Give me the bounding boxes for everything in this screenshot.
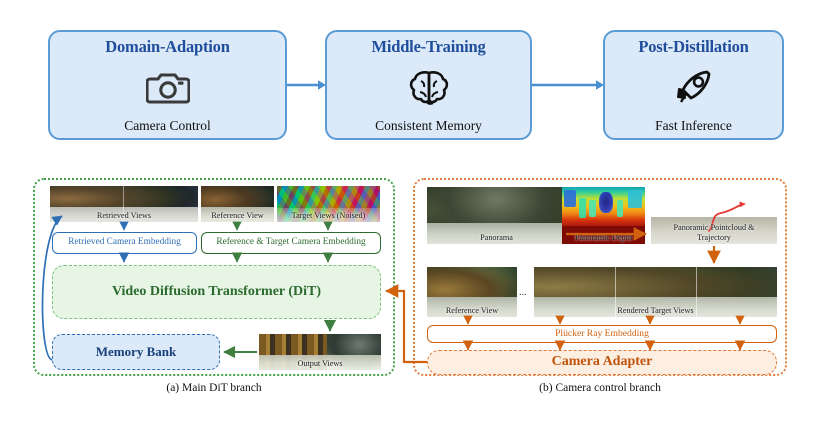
thumbnail-rendered-target-views: Rendered Target Views bbox=[534, 267, 777, 317]
stage-subtitle: Fast Inference bbox=[655, 119, 732, 133]
stage-post-distillation: Post-Distillation Fast Inference bbox=[603, 30, 784, 140]
stage-subtitle: Consistent Memory bbox=[375, 119, 482, 133]
box-label: Retrieved Camera Embedding bbox=[68, 238, 181, 248]
box-camera-adapter[interactable]: Camera Adapter bbox=[427, 350, 777, 375]
thumbnail-reference-view-right: Reference View bbox=[427, 267, 517, 317]
thumbnail-panorama: Panorama bbox=[427, 187, 566, 244]
thumbnail-label: Target Views (Noised) bbox=[277, 212, 380, 222]
thumbnail-panoramic-depth: Panoramic Depth bbox=[562, 187, 645, 244]
box-reference-target-camera-embedding[interactable]: Reference & Target Camera Embedding bbox=[201, 232, 381, 254]
stage-middle-training: Middle-Training Consistent Memory bbox=[325, 30, 532, 140]
thumbnail-output-views: Output Views bbox=[259, 334, 381, 370]
thumbnail-retrieved-views: Retrieved Views bbox=[50, 186, 198, 222]
thumbnail-label: Output Views bbox=[259, 360, 381, 370]
thumbnail-label: Reference View bbox=[427, 307, 517, 317]
thumbnail-label: Reference View bbox=[201, 212, 274, 222]
box-label: Plücker Ray Embedding bbox=[555, 329, 649, 339]
thumbnail-target-views-noised: Target Views (Noised) bbox=[277, 186, 380, 222]
thumbnail-reference-view: Reference View bbox=[201, 186, 274, 222]
stage-title: Post-Distillation bbox=[638, 39, 748, 56]
box-retrieved-camera-embedding[interactable]: Retrieved Camera Embedding bbox=[52, 232, 197, 254]
box-label: Memory Bank bbox=[96, 345, 177, 359]
stage-title: Middle-Training bbox=[371, 39, 485, 56]
ellipsis-label: ... bbox=[519, 287, 527, 298]
box-label: Camera Adapter bbox=[552, 355, 653, 370]
figure-root: Domain-Adaption Camera Control Middle-Tr… bbox=[0, 0, 816, 423]
box-memory-bank[interactable]: Memory Bank bbox=[52, 334, 220, 370]
left-branch-caption: (a) Main DiT branch bbox=[33, 382, 395, 394]
rocket-icon bbox=[673, 69, 715, 105]
thumbnail-label: Panoramic Depth bbox=[562, 234, 645, 244]
thumbnail-label-line2: Trajectory bbox=[697, 233, 731, 242]
box-video-diffusion-transformer[interactable]: Video Diffusion Transformer (DiT) bbox=[52, 265, 381, 319]
stage-subtitle: Camera Control bbox=[124, 119, 211, 133]
thumbnail-label: Rendered Target Views bbox=[534, 307, 777, 317]
box-label: Video Diffusion Transformer (DiT) bbox=[112, 285, 321, 300]
thumbnail-panoramic-pointcloud-trajectory: Panoramic Pointcloud & Trajectory bbox=[651, 187, 777, 244]
pipeline-connector-1 bbox=[287, 78, 327, 92]
camera-icon bbox=[146, 69, 190, 105]
thumbnail-label: Panorama bbox=[427, 234, 566, 244]
pipeline-connector-2 bbox=[532, 78, 605, 92]
box-label: Reference & Target Camera Embedding bbox=[216, 238, 365, 248]
right-branch-caption: (b) Camera control branch bbox=[413, 382, 787, 394]
box-plucker-ray-embedding[interactable]: Plücker Ray Embedding bbox=[427, 325, 777, 343]
stage-title: Domain-Adaption bbox=[105, 39, 229, 56]
brain-icon bbox=[408, 69, 450, 105]
stage-domain-adaption: Domain-Adaption Camera Control bbox=[48, 30, 287, 140]
thumbnail-label: Retrieved Views bbox=[50, 212, 198, 222]
thumbnail-label-line1: Panoramic Pointcloud & bbox=[674, 223, 755, 232]
thumbnail-label: Panoramic Pointcloud & Trajectory bbox=[651, 223, 777, 244]
